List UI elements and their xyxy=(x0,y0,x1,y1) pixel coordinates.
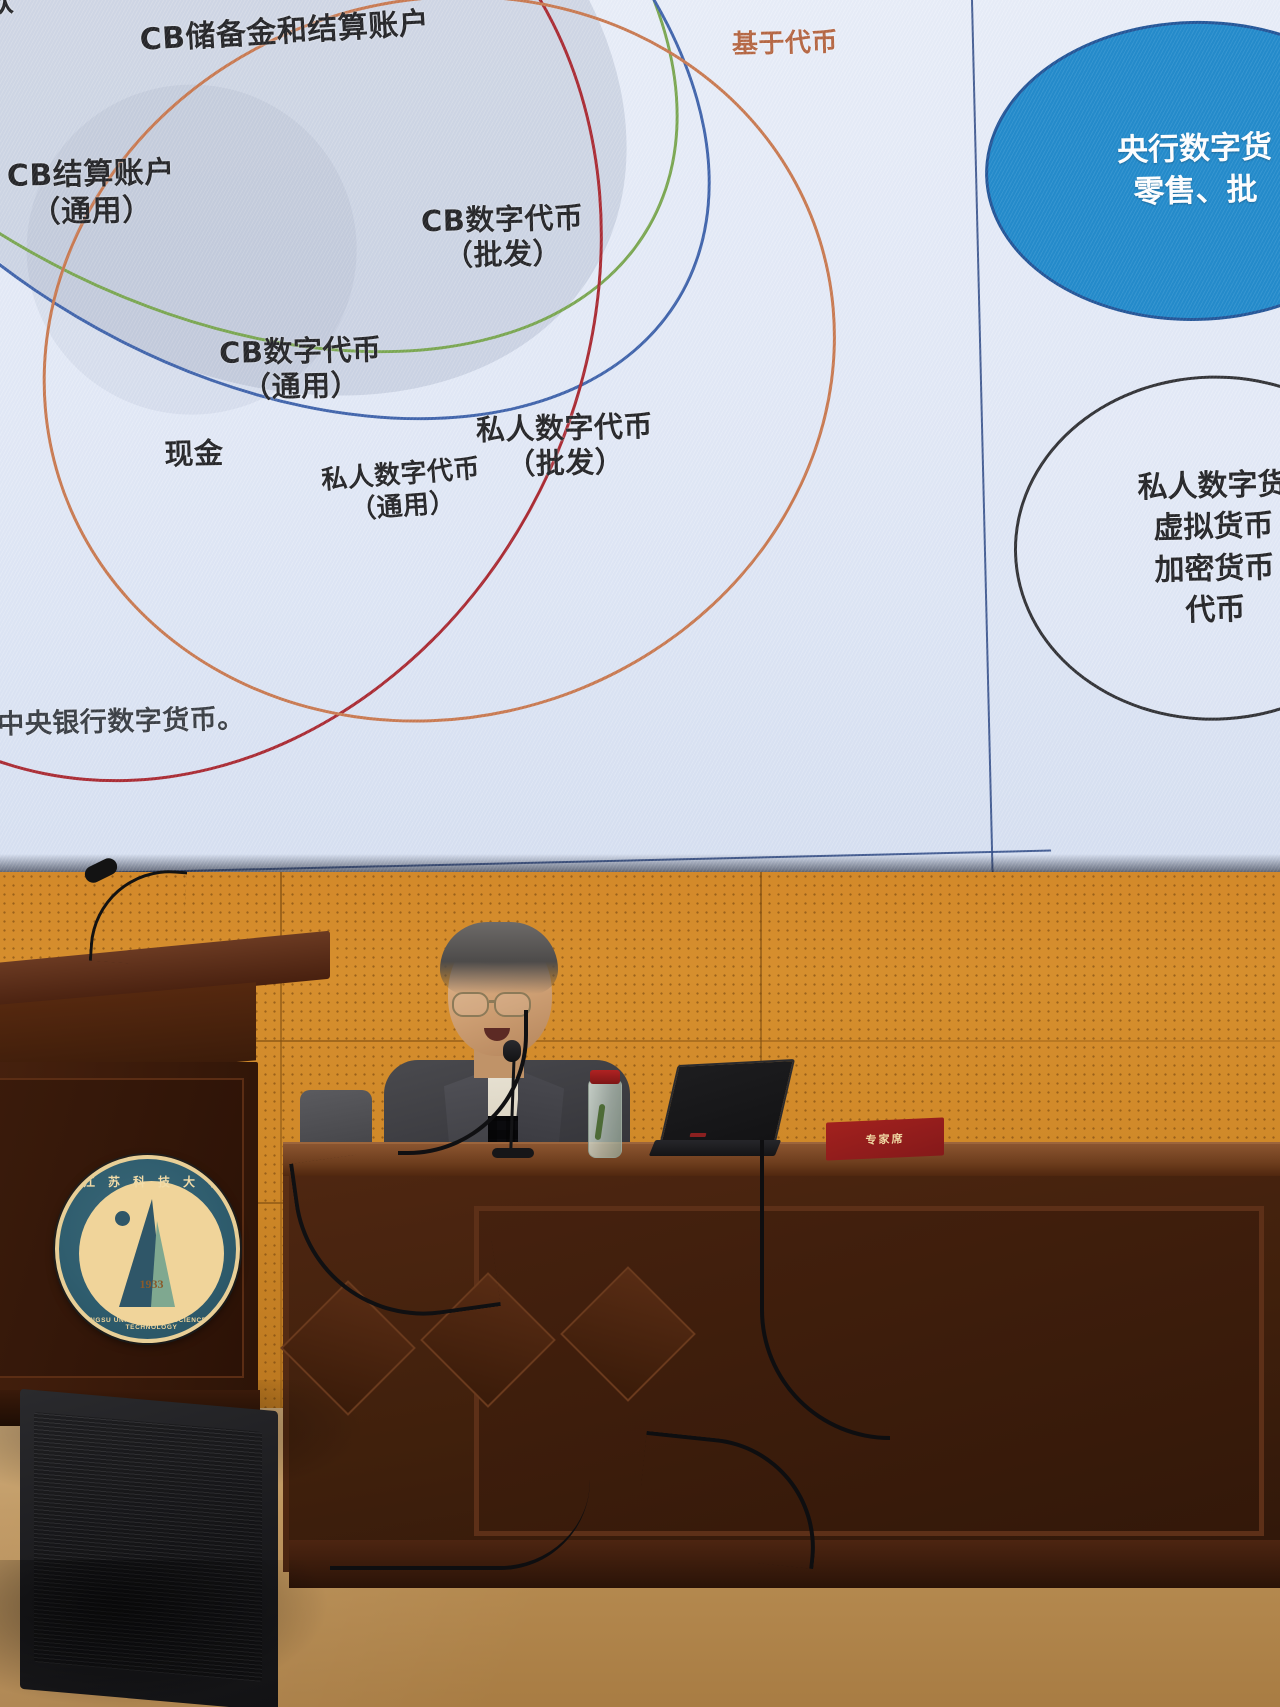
slide-oval-cbdc-text: 央行数字货 零售、批 xyxy=(1117,127,1274,214)
laptop-logo xyxy=(690,1133,707,1137)
slide-vertical-divider xyxy=(969,0,994,880)
university-seal: 江苏科技大学 1933 JIANGSU UNIVERSITY OF SCIENC… xyxy=(55,1155,240,1343)
slide-content: 存款 CB储备金和结算账户 CB结算账户 （通用） CB数字代币 （批发） CB… xyxy=(0,0,1280,880)
eyeglasses-bridge xyxy=(489,1000,495,1003)
venn-label-cash: 现金 xyxy=(164,436,224,473)
seal-english-name: JIANGSU UNIVERSITY OF SCIENCE AND TECHNO… xyxy=(59,1317,240,1331)
speaker-hair xyxy=(440,922,558,994)
venn-label-cb-digital-token-general: CB数字代币 （通用） xyxy=(219,332,383,407)
venn-label-cb-settlement-general: CB结算账户 （通用） xyxy=(6,155,176,232)
venn-label-deposit: 存款 xyxy=(0,0,15,23)
screenshot-root: 存款 CB储备金和结算账户 CB结算账户 （通用） CB数字代币 （批发） CB… xyxy=(0,0,1280,1707)
slide-caption: 表中央银行数字货币。 xyxy=(0,704,245,743)
venn-label-private-digital-token-wholesale: 私人数字代币 （批发） xyxy=(476,409,655,484)
seal-chinese-name: 江苏科技大学 xyxy=(59,1173,240,1190)
water-bottle-cap xyxy=(590,1070,620,1084)
lectern: 江苏科技大学 1933 JIANGSU UNIVERSITY OF SCIENC… xyxy=(0,950,330,1450)
venn-label-cb-digital-token-wholesale: CB数字代币 （批发） xyxy=(421,200,585,275)
desk-microphone-base xyxy=(492,1148,534,1158)
water-bottle xyxy=(588,1080,622,1158)
venn-axis-label-token-based: 基于代币 xyxy=(732,27,839,61)
venn-label-private-digital-token-general: 私人数字代币 （通用） xyxy=(320,454,483,529)
slide-oval-private-currency: 私人数字货 虚拟货币 加密货币 代币 xyxy=(1010,371,1280,725)
slide-oval-cbdc: 央行数字货 零售、批 xyxy=(982,16,1280,326)
seal-dot xyxy=(115,1211,130,1226)
loudspeaker-shadow xyxy=(0,1560,330,1707)
slide-oval-private-currency-text: 私人数字货 虚拟货币 加密货币 代币 xyxy=(1137,464,1280,633)
seal-sail-secondary-icon xyxy=(151,1221,175,1307)
projection-screen: 存款 CB储备金和结算账户 CB结算账户 （通用） CB数字代币 （批发） CB… xyxy=(0,0,1280,880)
seal-founding-year: 1933 xyxy=(59,1277,240,1292)
